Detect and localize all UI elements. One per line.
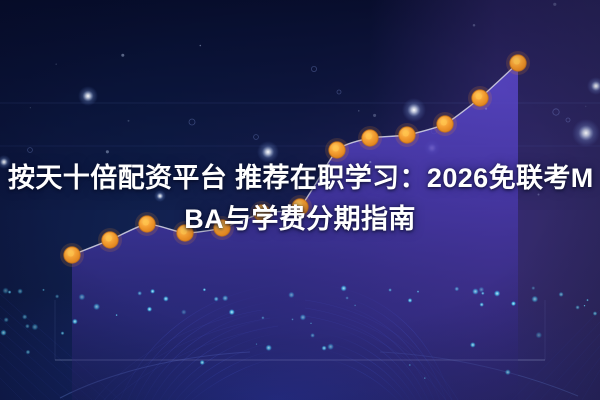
particle-dot [559, 292, 564, 297]
particle-dot [137, 291, 142, 296]
particle-dot [479, 302, 484, 307]
particle-dot [511, 301, 516, 306]
particle-dot [321, 345, 326, 350]
particle-dot [22, 314, 27, 319]
particle-dot [72, 319, 78, 325]
particle-dot [288, 292, 294, 298]
particle-dot [593, 311, 598, 316]
particle-dot [417, 290, 420, 293]
particle-dot [310, 333, 315, 338]
particle-dot [345, 296, 349, 300]
particle-dot [256, 343, 258, 345]
particle-dot [300, 314, 306, 320]
particle-dot [470, 342, 476, 348]
particle-dot [494, 290, 500, 296]
particle-dot [79, 294, 86, 301]
particle-speck [473, 24, 476, 27]
promo-banner: 按天十倍配资平台 推荐在职学习：2026免联考M BA与学费分期指南 [0, 0, 600, 400]
particle-dot [536, 332, 543, 339]
particle-dot [479, 287, 485, 293]
particle-dot [481, 292, 485, 296]
particle-dot [214, 296, 219, 301]
particle-dot [584, 305, 586, 307]
particle-dot [0, 330, 6, 336]
particle-dot [531, 296, 538, 303]
title-line-1: 按天十倍配资平台 推荐在职学习：2026免联考M [8, 158, 592, 199]
particle-dot [55, 294, 59, 298]
particle-dot [26, 350, 31, 355]
particle-speck [55, 63, 57, 65]
particle-dot [61, 331, 65, 335]
particle-dot [408, 298, 413, 303]
particle-dot [291, 318, 293, 320]
particle-dot [261, 316, 264, 319]
particle-speck [585, 106, 587, 108]
particle-dot [4, 317, 9, 322]
particle-dot [531, 286, 535, 290]
particle-dot [163, 296, 169, 302]
particle-dot [147, 307, 152, 312]
particle-dot [575, 305, 580, 310]
particle-dot [17, 288, 23, 294]
particle-dot [222, 295, 228, 301]
particle-dot [181, 309, 187, 315]
particle-dot [424, 377, 426, 379]
title-line-2: BA与学费分期指南 [8, 199, 592, 240]
particle-dot [310, 322, 312, 324]
particle-dot [2, 287, 9, 294]
particle-dot [203, 288, 206, 291]
particle-speck [106, 150, 109, 153]
particle-dot [32, 324, 39, 331]
particle-dot [42, 289, 45, 292]
particle-dot [265, 345, 272, 352]
particle-dot [472, 288, 479, 295]
particle-dot [116, 314, 118, 316]
particle-dot [409, 364, 412, 367]
particle-dot [341, 285, 347, 291]
particle-speck [553, 3, 556, 6]
particle-dot [505, 369, 511, 375]
particle-dot [327, 343, 334, 350]
particle-speck [485, 108, 487, 110]
banner-title: 按天十倍配资平台 推荐在职学习：2026免联考M BA与学费分期指南 [0, 158, 600, 240]
particle-speck [30, 107, 31, 108]
particle-dot [93, 303, 100, 310]
particle-speck [128, 120, 130, 122]
particle-dot [150, 289, 155, 294]
particle-speck [373, 114, 376, 117]
particle-dot [200, 360, 205, 365]
particle-dot [229, 309, 235, 315]
particle-dot [25, 324, 30, 329]
particle-dot [8, 290, 12, 294]
particle-dot [454, 287, 459, 292]
particle-dot [586, 299, 588, 301]
particle-speck [200, 45, 202, 47]
particle-speck [358, 110, 359, 111]
particle-speck [121, 54, 124, 57]
particle-dot [354, 304, 356, 306]
particle-dot [388, 288, 392, 292]
